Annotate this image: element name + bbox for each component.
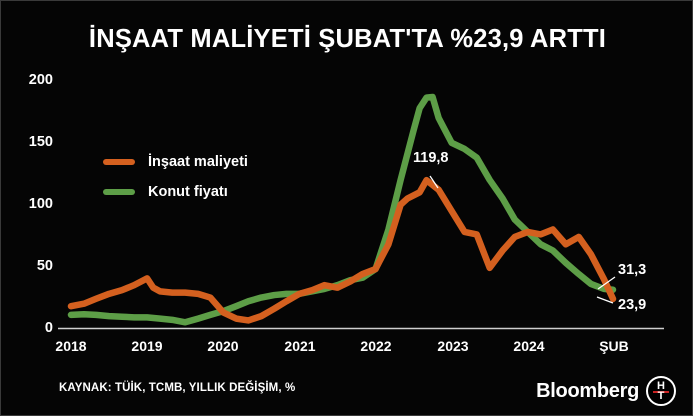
x-tick-2020: 2020 [207, 338, 238, 354]
x-tick-2023: 2023 [437, 338, 468, 354]
x-tick-2019: 2019 [131, 338, 162, 354]
annotation-end-konut-fiyati: 31,3 [618, 262, 646, 278]
chart-legend: İnşaat maliyeti Konut fiyatı [103, 147, 248, 207]
x-tick-2018: 2018 [55, 338, 86, 354]
chart-plot-area [1, 1, 693, 416]
legend-item-konut-fiyati[interactable]: Konut fiyatı [103, 177, 248, 207]
ht-logo-letter-t: T [648, 391, 674, 402]
legend-label-insaat-maliyeti: İnşaat maliyeti [148, 154, 248, 170]
legend-label-konut-fiyati: Konut fiyatı [148, 184, 228, 200]
ht-circle-logo-icon: H T [646, 376, 676, 406]
annotation-end-insaat-maliyeti: 23,9 [618, 297, 646, 313]
legend-swatch-orange-icon [103, 159, 135, 165]
legend-swatch-green-icon [103, 189, 135, 195]
x-tick-2024: 2024 [513, 338, 544, 354]
legend-item-insaat-maliyeti[interactable]: İnşaat maliyeti [103, 147, 248, 177]
chart-frame: İNŞAAT MALİYETİ ŞUBAT'TA %23,9 ARTTI 200… [0, 0, 693, 416]
x-tick-sub: ŞUB [599, 338, 629, 354]
brand-logo: Bloomberg H T [536, 376, 676, 406]
x-tick-2022: 2022 [360, 338, 391, 354]
source-note: KAYNAK: TÜİK, TCMB, YILLIK DEĞİŞİM, % [59, 382, 295, 394]
bloomberg-wordmark: Bloomberg [536, 380, 639, 403]
x-tick-2021: 2021 [284, 338, 315, 354]
annotation-peak-insaat-maliyeti: 119,8 [413, 150, 449, 166]
